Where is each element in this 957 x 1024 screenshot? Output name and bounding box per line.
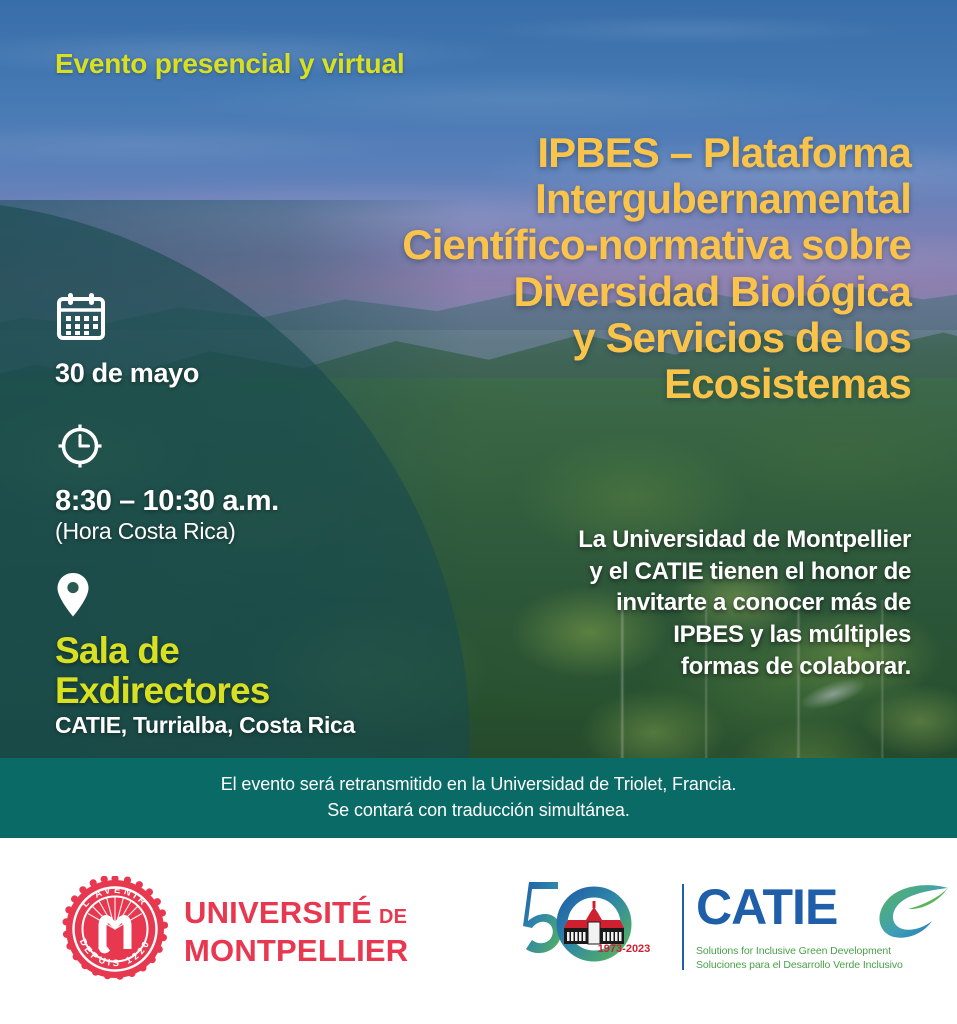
spacer-date-time xyxy=(55,389,435,421)
invitation-line-2: y el CATIE tienen el honor de xyxy=(441,556,911,588)
catie-tagline-es: Soluciones para el Desarrollo Verde Incl… xyxy=(696,958,954,972)
banner-line-1: El evento será retransmitido en la Unive… xyxy=(221,772,737,798)
event-date: 30 de mayo xyxy=(55,358,435,389)
catie-wordmark-block: CATIE Solutions for Inclusive Green Deve… xyxy=(696,881,954,973)
logo-footer: L'AVENIR DEPUIS 1220 UNIVERSITÉ DE MONTP… xyxy=(0,838,957,1024)
venue-address: CATIE, Turrialba, Costa Rica xyxy=(55,712,435,739)
title-line-6: Ecosistemas xyxy=(351,361,911,407)
event-time: 8:30 – 10:30 a.m. xyxy=(55,485,435,518)
catie-logo: 1973-2023 CATIE xyxy=(520,880,954,973)
title-line-3: Científico-normativa sobre xyxy=(351,222,911,268)
broadcast-banner: El evento será retransmitido en la Unive… xyxy=(0,758,957,838)
montpellier-wordmark: UNIVERSITÉ DE MONTPELLIER xyxy=(184,897,408,966)
map-pin-icon xyxy=(55,571,435,619)
montpellier-seal-icon: L'AVENIR DEPUIS 1220 xyxy=(62,876,168,987)
catie-tagline-en: Solutions for Inclusive Green Developmen… xyxy=(696,944,954,958)
banner-line-2: Se contará con traducción simultánea. xyxy=(327,798,629,824)
montpellier-name-de: DE xyxy=(379,907,407,927)
catie-anniversary-years: 1973-2023 xyxy=(598,943,651,955)
event-details: 30 de mayo 8:30 – 10:30 a.m. (Hora Costa… xyxy=(55,292,435,739)
venue-name: Sala de Exdirectores xyxy=(55,631,435,710)
title-line-2: Intergubernamental xyxy=(351,176,911,222)
spacer-time-venue xyxy=(55,545,435,571)
page-title: IPBES – Plataforma Intergubernamental Ci… xyxy=(351,130,911,407)
title-line-5: y Servicios de los xyxy=(351,315,911,361)
invitation-line-1: La Universidad de Montpellier xyxy=(441,524,911,556)
clock-icon xyxy=(55,421,435,471)
calendar-icon xyxy=(55,292,435,342)
montpellier-logo: L'AVENIR DEPUIS 1220 UNIVERSITÉ DE MONTP… xyxy=(62,876,408,987)
catie-wordmark: CATIE xyxy=(696,881,954,944)
title-line-1: IPBES – Plataforma xyxy=(351,130,911,176)
invitation-line-3: invitarte a conocer más de xyxy=(441,587,911,619)
venue-name-line-1: Sala de xyxy=(55,631,435,671)
venue-name-line-2: Exdirectores xyxy=(55,671,435,711)
montpellier-name-line-2: MONTPELLIER xyxy=(184,935,408,966)
event-timezone: (Hora Costa Rica) xyxy=(55,518,435,545)
montpellier-name-line-1: UNIVERSITÉ xyxy=(184,897,372,928)
svg-text:CATIE: CATIE xyxy=(696,881,837,935)
invitation-text: La Universidad de Montpellier y el CATIE… xyxy=(441,524,911,682)
catie-50-anniversary-icon: 1973-2023 xyxy=(520,880,670,973)
title-line-4: Diversidad Biológica xyxy=(351,269,911,315)
invitation-line-4: IPBES y las múltiples xyxy=(441,619,911,651)
catie-divider xyxy=(682,884,684,970)
catie-leaf-icon xyxy=(879,885,948,938)
invitation-line-5: formas de colaborar. xyxy=(441,651,911,683)
event-poster: Evento presencial y virtual IPBES – Plat… xyxy=(0,0,957,1024)
event-kicker: Evento presencial y virtual xyxy=(55,48,404,80)
